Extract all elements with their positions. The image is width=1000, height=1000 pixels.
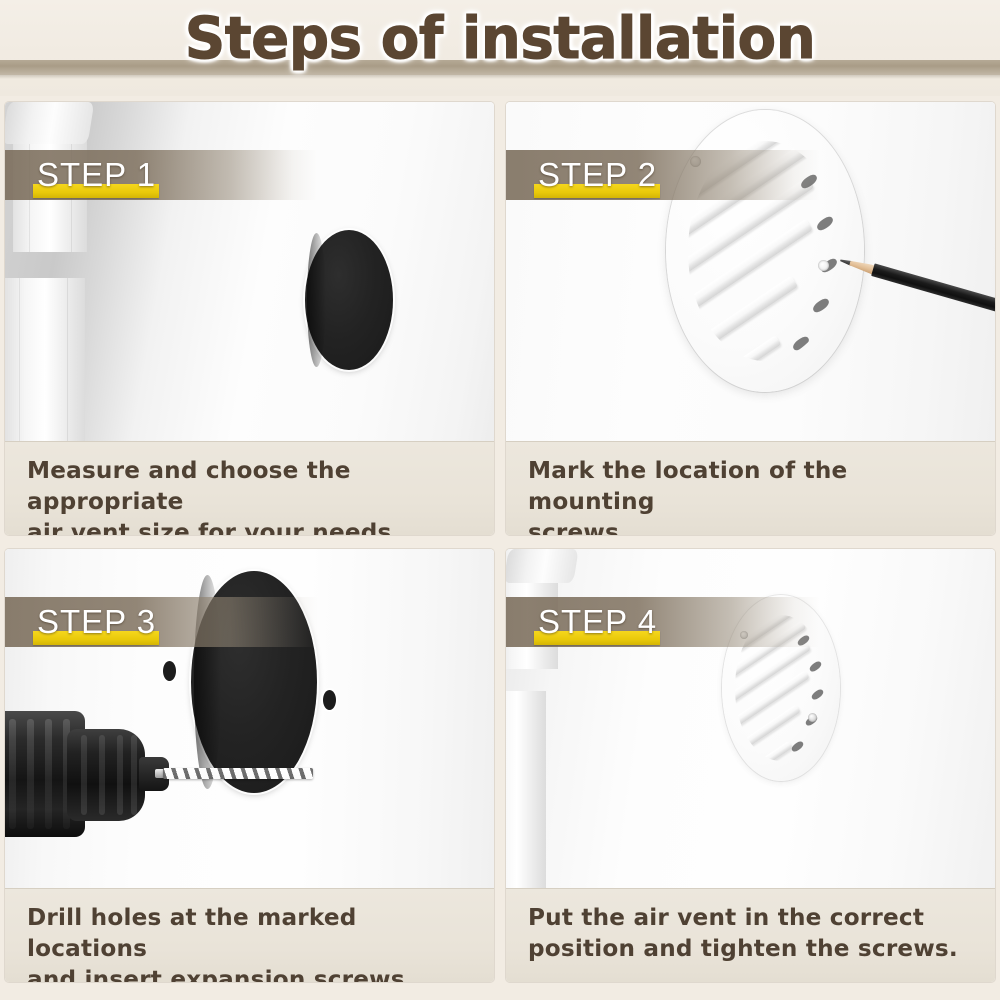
installation-guide-page: Steps of installation STEP 1 xyxy=(0,0,1000,1000)
step-panel-1: STEP 1 Measure and choose the appropriat… xyxy=(5,102,494,535)
drainpipe-lower xyxy=(5,278,85,448)
step-1-caption: Measure and choose the appropriate air v… xyxy=(5,441,494,535)
vent-slat-tip xyxy=(808,660,823,673)
step-4-caption-text: Put the air vent in the correct position… xyxy=(528,902,972,964)
step-3-caption-text: Drill holes at the marked locations and … xyxy=(27,902,471,982)
vent-slat-tip xyxy=(815,215,835,233)
header: Steps of installation xyxy=(0,0,1000,96)
drainpipe-lower xyxy=(506,691,546,889)
step-panel-4: STEP 4 Put the air vent in the correct p… xyxy=(506,549,995,982)
step-2-caption: Mark the location of the mounting screws… xyxy=(506,441,995,535)
step-4-caption: Put the air vent in the correct position… xyxy=(506,888,995,982)
page-title: Steps of installation xyxy=(15,5,985,71)
step-1-caption-text: Measure and choose the appropriate air v… xyxy=(27,455,471,535)
vent-slat-tip xyxy=(811,297,831,315)
step-3-label: STEP 3 xyxy=(37,599,156,645)
vent-slat xyxy=(749,741,793,760)
vent-screw-bottom xyxy=(808,713,817,722)
step-panel-2: STEP 2 Mark the location of the mounting… xyxy=(506,102,995,535)
step-4-label: STEP 4 xyxy=(538,599,657,645)
vent-slat-tip xyxy=(791,335,811,353)
step-3-caption: Drill holes at the marked locations and … xyxy=(5,888,494,982)
step-1-label: STEP 1 xyxy=(37,152,156,198)
vent-screw-hole-marked xyxy=(818,260,829,271)
header-bar-shadow xyxy=(0,75,1000,79)
step-2-illustration: STEP 2 xyxy=(506,102,995,448)
drainpipe-elbow xyxy=(506,549,579,583)
step-2-caption-text: Mark the location of the mounting screws… xyxy=(528,455,972,535)
vent-slat-tip xyxy=(790,740,805,753)
step-3-illustration: STEP 3 xyxy=(5,549,494,889)
vent-slat-tip xyxy=(810,688,825,701)
drill-bit xyxy=(163,768,313,779)
step-1-illustration: STEP 1 xyxy=(5,102,494,448)
drill-chuck xyxy=(67,729,145,821)
drainpipe-elbow xyxy=(5,102,94,144)
marked-screw-hole-right xyxy=(323,690,336,710)
step-2-label: STEP 2 xyxy=(538,152,657,198)
vent-hole-marking xyxy=(305,230,393,370)
step-4-illustration: STEP 4 xyxy=(506,549,995,889)
steps-grid: STEP 1 Measure and choose the appropriat… xyxy=(5,102,995,982)
step-panel-3: STEP 3 Drill holes at the marked locatio… xyxy=(5,549,494,982)
marked-screw-hole-left xyxy=(163,661,176,681)
